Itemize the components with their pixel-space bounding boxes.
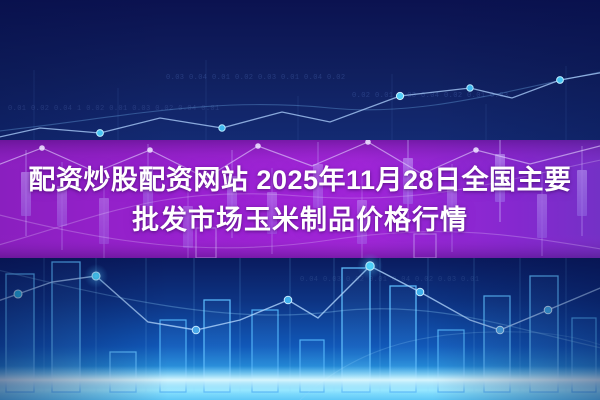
top-navy-region	[0, 0, 600, 140]
background-graphics	[0, 0, 600, 400]
banner-image: 0.01 0.02 0.04 1 0.02 0.01 0.03 0.02 0.0…	[0, 0, 600, 400]
purple-band-region	[0, 139, 600, 258]
